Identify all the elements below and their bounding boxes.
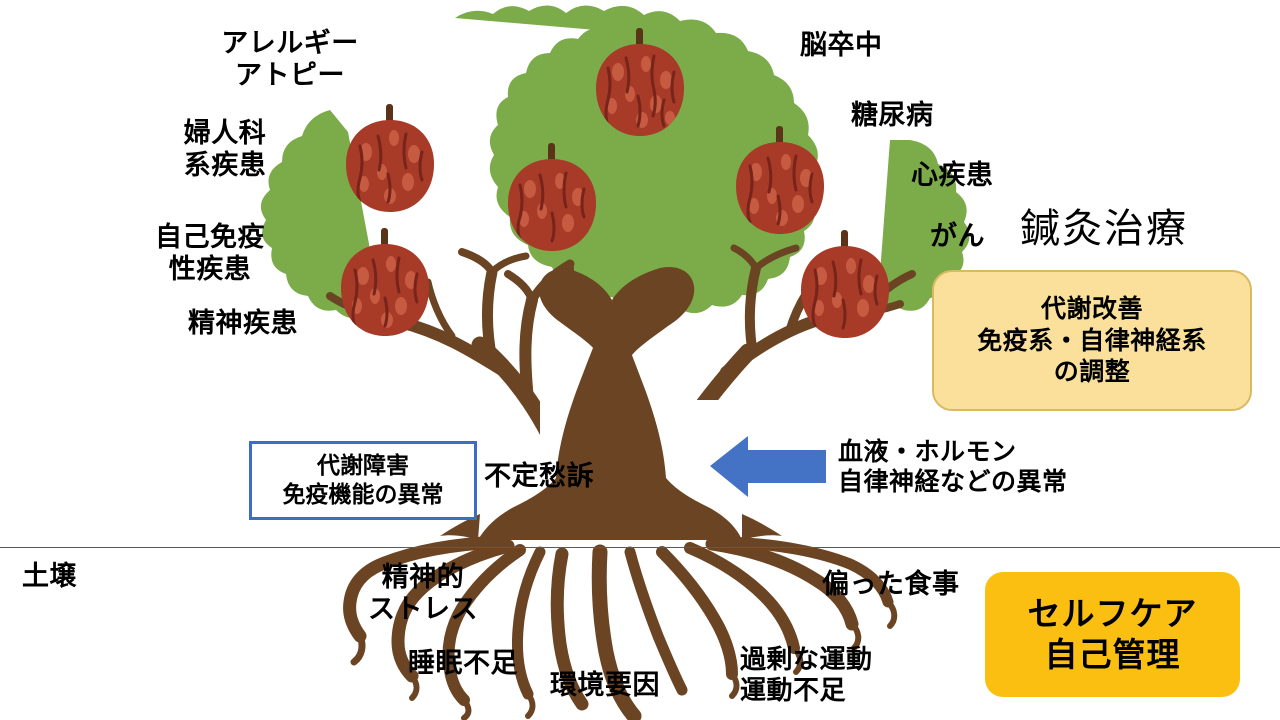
diagram-canvas: アレルギー アトピー 婦人科 系疾患 自己免疫 性疾患 精神疾患 脳卒中 糖尿病… [0, 0, 1280, 720]
fruit-label-mental-illness: 精神疾患 [168, 308, 318, 340]
root-label-mental-stress: 精神的 ストレス [348, 562, 498, 626]
fruit-label-gynecologic: 婦人科 系疾患 [150, 118, 300, 182]
fruit-label-diabetes: 糖尿病 [851, 100, 934, 132]
indefinite-complaint-label: 不定愁訴 [484, 461, 594, 493]
selfcare-box: セルフケア 自己管理 [985, 572, 1240, 697]
root-label-sleep-deprivation: 睡眠不足 [408, 648, 518, 680]
apple-fruit [801, 230, 889, 338]
root-label-unbalanced-diet: 偏った食事 [822, 569, 960, 601]
root-label-environmental-factors: 環境要因 [550, 670, 660, 702]
fruit-label-heart-disease: 心疾患 [911, 160, 994, 192]
acupuncture-title: 鍼灸治療 [1020, 196, 1188, 254]
fruit-label-autoimmune: 自己免疫 性疾患 [135, 222, 285, 286]
soil-label: 土壌 [22, 561, 77, 593]
fruit-label-cancer: がん [930, 221, 985, 253]
apple-fruit [346, 104, 434, 212]
fruit-label-allergy: アレルギー アトピー [200, 28, 380, 92]
metabolic-disorder-box: 代謝障害 免疫機能の異常 [249, 441, 477, 520]
fruit-label-stroke: 脳卒中 [800, 30, 883, 62]
acupuncture-effect-box: 代謝改善 免疫系・自律神経系 の調整 [932, 270, 1252, 411]
blood-hormone-abnormality-label: 血液・ホルモン 自律神経などの異常 [838, 437, 1068, 496]
soil-divider-line [0, 547, 1280, 548]
root-label-exercise-imbalance: 過剰な運動 運動不足 [740, 645, 873, 706]
